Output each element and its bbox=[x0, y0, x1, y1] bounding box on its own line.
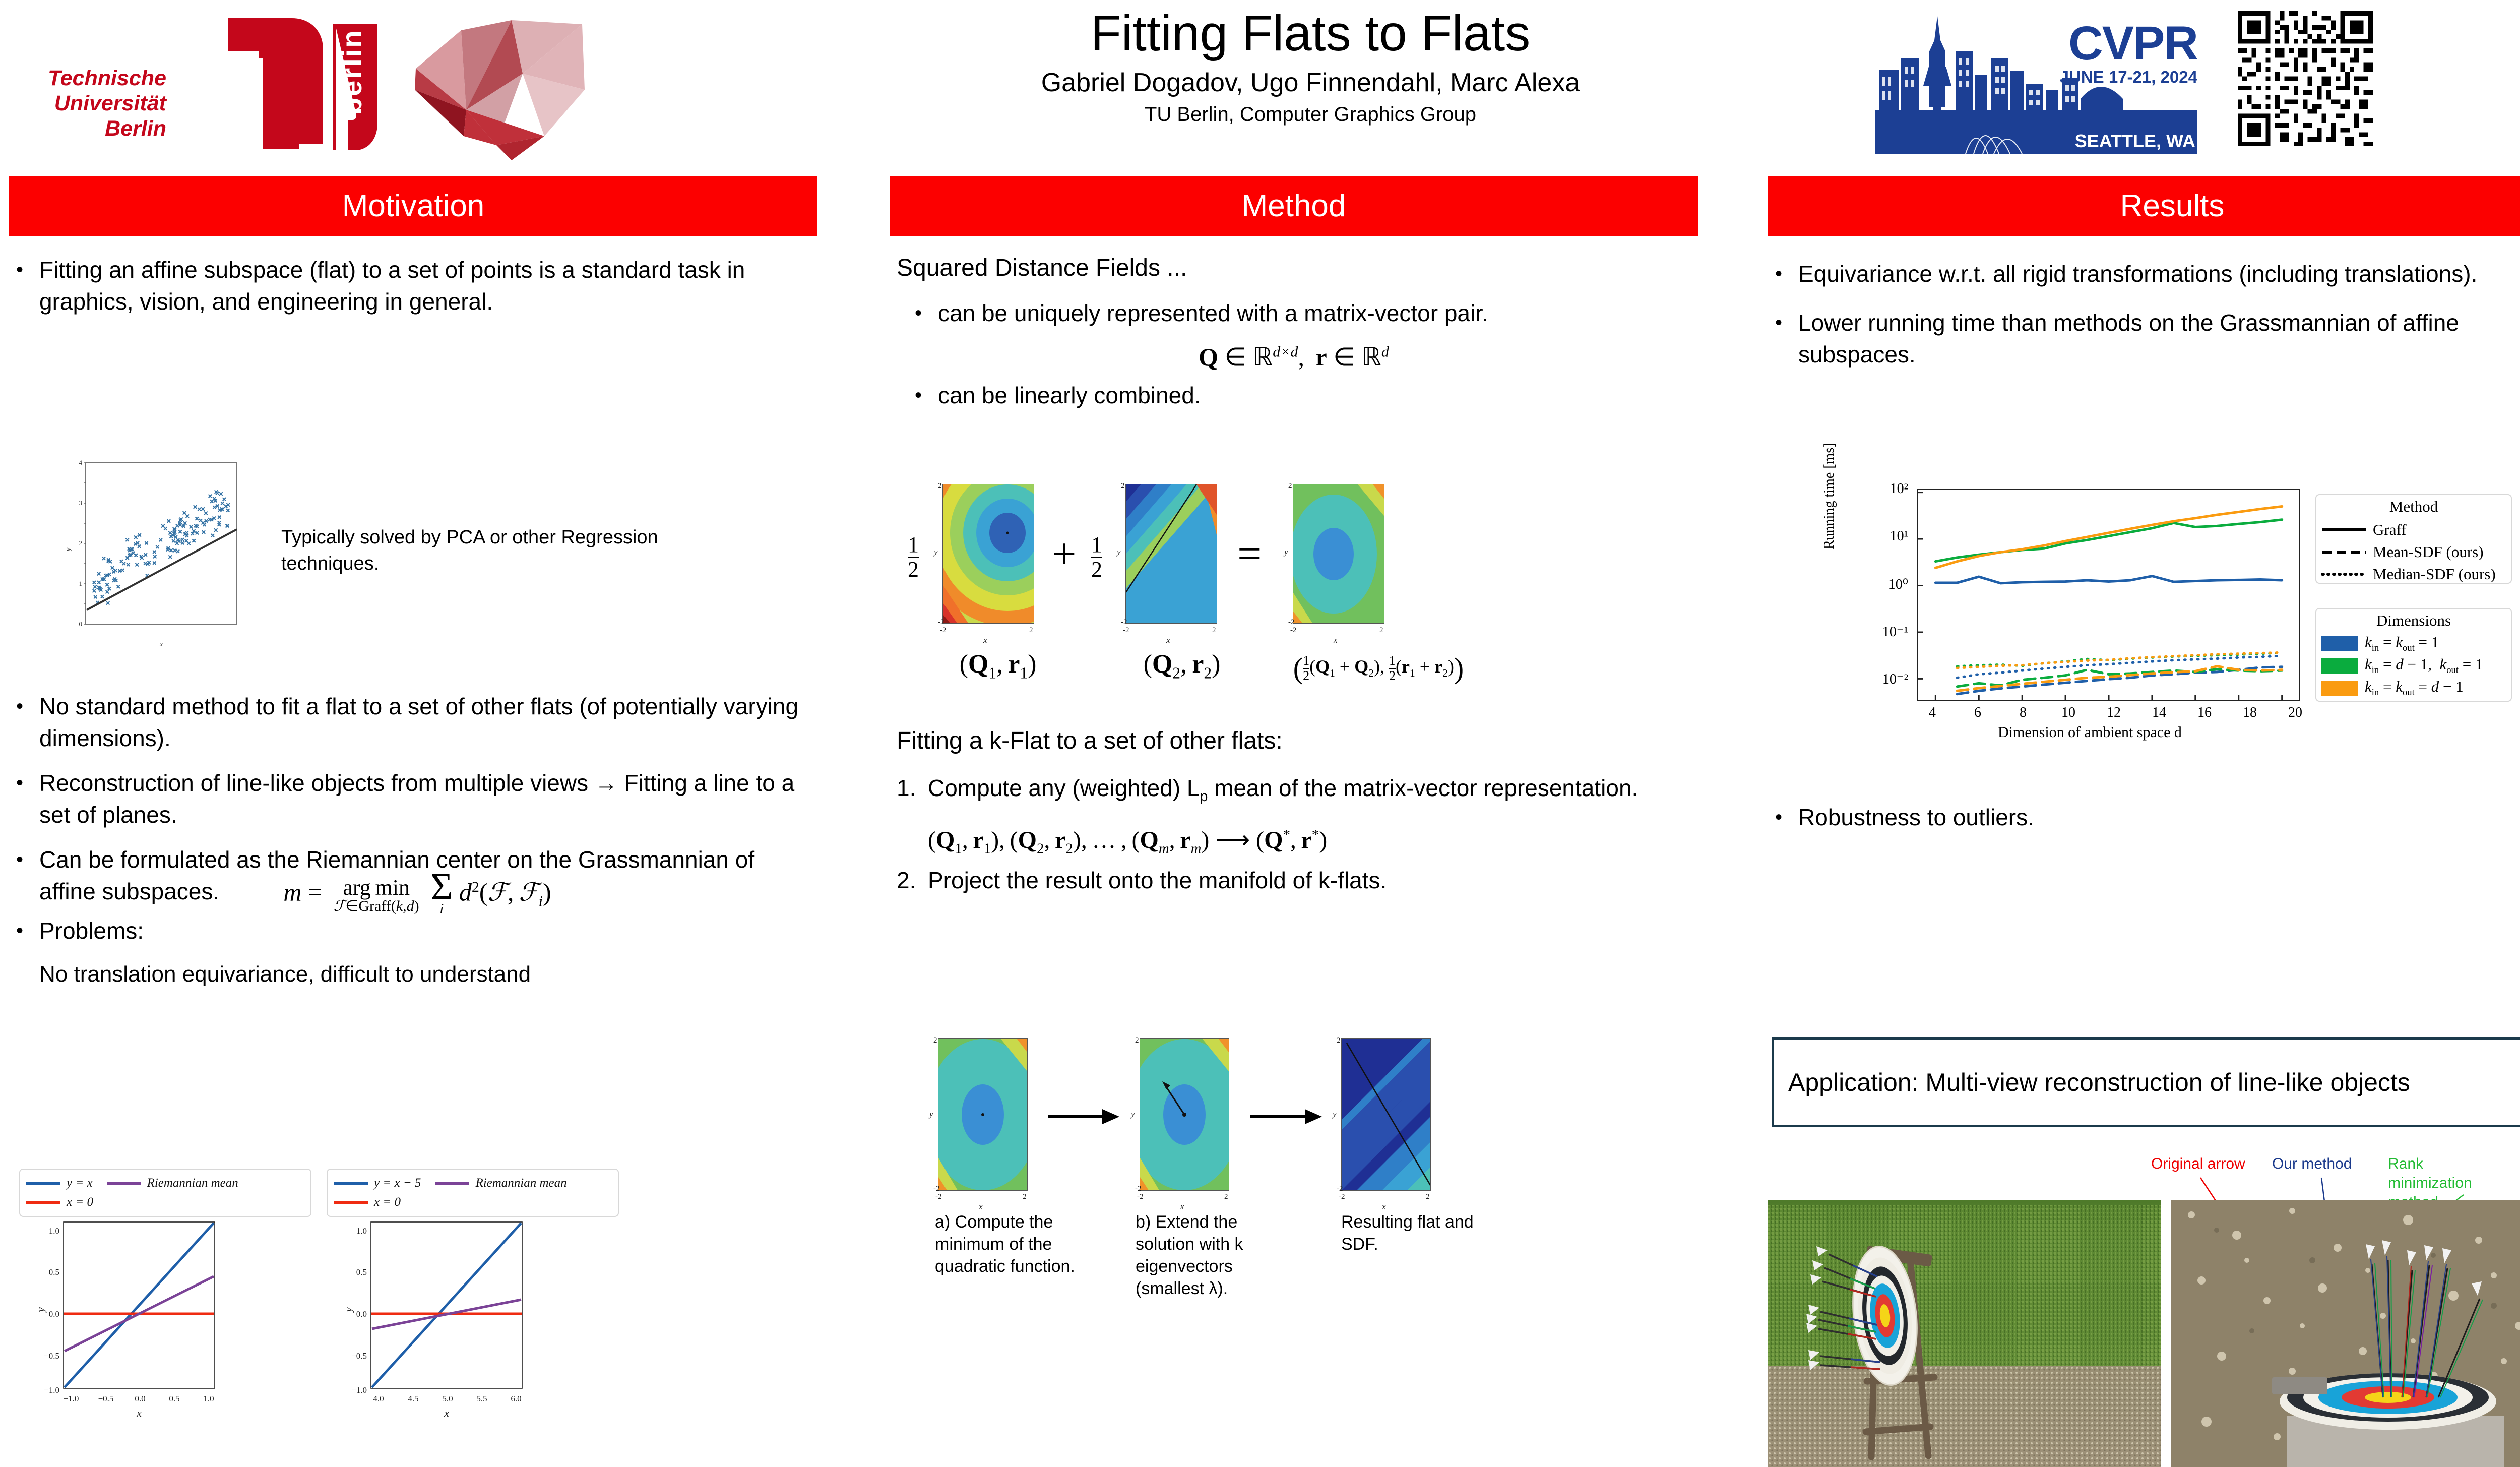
x-tick-label: 14 bbox=[2144, 705, 2174, 721]
legend-label: kin = d − 1, kout = 1 bbox=[2365, 655, 2483, 676]
legend-line-swatch bbox=[26, 1201, 60, 1204]
equivariance-plot-translated: y = x − 5 Riemannian mean x = 0 1.00.5 0… bbox=[327, 1169, 619, 1451]
x-tick-label: 20 bbox=[2280, 705, 2310, 721]
cvpr-text-block: CVPR JUNE 17-21, 2024 bbox=[2060, 21, 2197, 87]
bullet-text: Robustness to outliers. bbox=[1798, 802, 2520, 833]
svg-text:1: 1 bbox=[79, 580, 83, 587]
legend-row: Mean-SDF (ours) bbox=[2316, 541, 2511, 563]
riemannian-center-formula: m = arg min ℱ∈Graff(k,d) Σ i d2(ℱ, ℱi) bbox=[70, 872, 765, 918]
figure-caption-c: Resulting flat and SDF. bbox=[1341, 1211, 1502, 1255]
legend-row: Median-SDF (ours) bbox=[2316, 563, 2511, 585]
bullet-item: • No standard method to fit a flat to a … bbox=[16, 691, 810, 754]
legend-color-swatch bbox=[2321, 681, 2358, 696]
y-tick-label: 10⁻² bbox=[1848, 670, 1908, 688]
scatter-note: Typically solved by PCA or other Regress… bbox=[281, 524, 700, 577]
step-number: 1. bbox=[897, 772, 928, 813]
bullet-dot-icon: • bbox=[1775, 258, 1798, 290]
chart-legend-dimensions: Dimensions kin = kout = 1 kin = d − 1, k… bbox=[2315, 608, 2512, 702]
svg-text:y: y bbox=[65, 547, 73, 552]
x-tick-label: 10 bbox=[2053, 705, 2084, 721]
contour-plot-step-a bbox=[938, 1038, 1028, 1191]
chart-plot-area bbox=[1917, 489, 2300, 701]
bullet-text: Equivariance w.r.t. all rigid transforma… bbox=[1798, 258, 2520, 290]
contour-plot-step-b bbox=[1140, 1038, 1229, 1191]
section-header-results: Results bbox=[1768, 176, 2520, 236]
svg-text:−1.0: −1.0 bbox=[351, 1385, 367, 1395]
bullet-text: can be uniquely represented with a matri… bbox=[938, 297, 1691, 329]
photo-archery-target-original bbox=[1768, 1200, 2161, 1467]
legend-row: kin = kout = d − 1 bbox=[2316, 677, 2511, 699]
figure-caption-b: b) Extend the solution with k eigenvecto… bbox=[1136, 1211, 1297, 1300]
section-header-method: Method bbox=[890, 176, 1698, 236]
bullet-dot-icon: • bbox=[16, 767, 39, 831]
section-title-motivation: Motivation bbox=[342, 191, 485, 222]
sdf-combination-figure: 1 2 2 -2 -2 2 x y + 1 2 bbox=[890, 479, 1698, 696]
combination-result: (12(Q1 + Q2), 12(r1 + r2)) bbox=[1273, 651, 1484, 685]
qr-code[interactable] bbox=[2238, 11, 2373, 146]
bullet-item: • can be linearly combined. bbox=[897, 380, 1691, 411]
bullet-text: No standard method to fit a flat to a se… bbox=[39, 691, 810, 754]
y-tick-label: 10¹ bbox=[1848, 528, 1908, 544]
contour-plot-result bbox=[1293, 484, 1384, 624]
arrow-right-icon bbox=[1248, 1104, 1324, 1129]
bullet-item: • Equivariance w.r.t. all rigid transfor… bbox=[1775, 258, 2520, 290]
legend-color-swatch bbox=[2321, 658, 2358, 674]
svg-text:6.0: 6.0 bbox=[511, 1394, 521, 1403]
svg-text:4: 4 bbox=[79, 459, 83, 466]
application-text: Application: Multi-view reconstruction o… bbox=[1774, 1068, 2410, 1097]
application-box: Application: Multi-view reconstruction o… bbox=[1772, 1037, 2520, 1127]
column-motivation: Motivation • Fitting an affine subspace … bbox=[9, 176, 817, 331]
bullet-dot-icon: • bbox=[16, 254, 39, 318]
column-results: Results • Equivariance w.r.t. all rigid … bbox=[1768, 176, 2520, 384]
svg-text:y: y bbox=[34, 1307, 47, 1313]
cvpr-city: SEATTLE, WA bbox=[2075, 131, 2195, 152]
cvpr-logo: CVPR JUNE 17-21, 2024 SEATTLE, WA bbox=[1875, 10, 2197, 154]
section-title-method: Method bbox=[1242, 191, 1346, 222]
svg-text:−0.5: −0.5 bbox=[44, 1351, 59, 1361]
svg-text:x: x bbox=[159, 640, 163, 648]
bullet-text: Lower running time than methods on the G… bbox=[1798, 307, 2520, 371]
y-tick-label: 10⁰ bbox=[1848, 576, 1908, 593]
x-tick-label: 18 bbox=[2235, 705, 2265, 721]
cvpr-dates: JUNE 17-21, 2024 bbox=[2060, 68, 2197, 87]
svg-text:−1.0: −1.0 bbox=[64, 1394, 79, 1403]
svg-text:4.0: 4.0 bbox=[373, 1394, 384, 1403]
legend-label: Graff bbox=[2373, 521, 2407, 539]
legend-label: y = x bbox=[67, 1176, 93, 1190]
legend-label: Riemannian mean bbox=[475, 1176, 566, 1190]
x-tick-label: 16 bbox=[2189, 705, 2220, 721]
combination-term-1: (Q1, r1) bbox=[940, 649, 1056, 682]
svg-text:2: 2 bbox=[79, 539, 83, 547]
bullet-item: • Lower running time than methods on the… bbox=[1775, 307, 2520, 371]
tu-berlin-wordmark: Technische Universität Berlin bbox=[5, 66, 166, 141]
svg-text:5.5: 5.5 bbox=[476, 1394, 487, 1403]
svg-text:0.0: 0.0 bbox=[356, 1309, 367, 1319]
projection-figure: 2 -2 -2 2 x y 2 -2 -2 2 x y bbox=[890, 1033, 1698, 1250]
bullet-text: Problems: bbox=[39, 915, 810, 947]
legend-line-swatch bbox=[107, 1182, 141, 1185]
plus-operator: + bbox=[1052, 528, 1077, 579]
chart-lines bbox=[1918, 490, 2299, 700]
x-tick-label: 6 bbox=[1963, 705, 1993, 721]
step-text: Compute any (weighted) Lp mean of the ma… bbox=[928, 772, 1691, 813]
svg-text:0.0: 0.0 bbox=[49, 1309, 59, 1319]
section-title-results: Results bbox=[2120, 191, 2225, 222]
section-header-motivation: Motivation bbox=[9, 176, 817, 236]
legend-line-swatch bbox=[435, 1182, 469, 1185]
sdf-heading: Squared Distance Fields ... bbox=[897, 253, 1691, 283]
legend-label: kin = kout = d − 1 bbox=[2365, 678, 2464, 698]
annotation-our-method: Our method bbox=[2272, 1154, 2352, 1174]
bullet-dot-icon: • bbox=[1775, 802, 1798, 833]
bullet-dot-icon: • bbox=[16, 691, 39, 754]
tu-line-2: Universität bbox=[5, 91, 166, 116]
legend-label: y = x − 5 bbox=[374, 1176, 421, 1190]
cvpr-name: CVPR bbox=[2060, 21, 2197, 66]
tu-line-1: Technische bbox=[5, 66, 166, 91]
svg-text:1.0: 1.0 bbox=[49, 1226, 59, 1236]
svg-text:−0.5: −0.5 bbox=[351, 1351, 367, 1361]
svg-text:−0.5: −0.5 bbox=[98, 1394, 114, 1403]
legend-line-solid-icon bbox=[2321, 527, 2367, 533]
chart-ylabel: Running time [ms] bbox=[1821, 443, 1838, 549]
bullet-item: • Robustness to outliers. bbox=[1775, 802, 2520, 833]
legend-line-swatch bbox=[26, 1182, 60, 1185]
plot-legend: y = x − 5 Riemannian mean x = 0 bbox=[327, 1169, 619, 1217]
x-tick-label: 4 bbox=[1917, 705, 1947, 721]
bullet-text: can be linearly combined. bbox=[938, 380, 1691, 411]
legend-label: Median-SDF (ours) bbox=[2373, 565, 2496, 583]
coefficient-half: 1 2 bbox=[1091, 533, 1102, 581]
figure-caption-a: a) Compute the minimum of the quadratic … bbox=[935, 1211, 1086, 1277]
qr-formula: Q ∈ ℝd×d, r ∈ ℝd bbox=[897, 342, 1691, 372]
poster-authors: Gabriel Dogadov, Ugo Finnendahl, Marc Al… bbox=[806, 67, 1814, 99]
svg-text:y: y bbox=[342, 1307, 354, 1313]
bullet-text: Reconstruction of line-like objects from… bbox=[39, 767, 810, 831]
svg-text:1.0: 1.0 bbox=[203, 1394, 214, 1403]
contour-plot-step-c bbox=[1341, 1038, 1431, 1191]
photo-archery-target-reconstruction bbox=[2171, 1200, 2520, 1467]
chart-legend-method: Method Graff Mean-SDF (ours) Median-SDF … bbox=[2315, 494, 2512, 584]
svg-text:0.5: 0.5 bbox=[49, 1267, 59, 1277]
tu-line-3: Berlin bbox=[5, 116, 166, 141]
legend-label: x = 0 bbox=[374, 1195, 401, 1209]
x-tick-label: 12 bbox=[2099, 705, 2129, 721]
combination-term-2: (Q2, r2) bbox=[1124, 649, 1240, 682]
step-item: 2. Project the result onto the manifold … bbox=[897, 865, 1691, 896]
poster-title: Fitting Flats to Flats bbox=[806, 5, 1814, 62]
bullet-dot-icon: • bbox=[16, 915, 39, 947]
bullet-item: • can be uniquely represented with a mat… bbox=[897, 297, 1691, 329]
tu-berlin-logo: berlin bbox=[113, 9, 658, 160]
contour-plot-q2 bbox=[1125, 484, 1217, 624]
kflat-heading: Fitting a k-Flat to a set of other flats… bbox=[897, 726, 1691, 756]
legend-line-dashed-icon bbox=[2321, 549, 2367, 555]
legend-line-swatch bbox=[334, 1182, 368, 1185]
legend-line-dotted-icon bbox=[2321, 571, 2367, 577]
svg-text:−1.0: −1.0 bbox=[44, 1385, 59, 1395]
step-number: 2. bbox=[897, 865, 928, 896]
step-text: Project the result onto the manifold of … bbox=[928, 865, 1691, 896]
step-item: 1. Compute any (weighted) Lp mean of the… bbox=[897, 772, 1691, 813]
bullet-item: • Problems: bbox=[16, 915, 810, 947]
chart-xlabel: Dimension of ambient space d bbox=[1998, 724, 2182, 741]
y-tick-label: 10⁻¹ bbox=[1848, 623, 1908, 640]
legend-row: kin = d − 1, kout = 1 bbox=[2316, 655, 2511, 677]
title-block: Fitting Flats to Flats Gabriel Dogadov, … bbox=[806, 5, 1814, 127]
legend-label: x = 0 bbox=[67, 1195, 93, 1209]
step-formula: (Q1, r1), (Q2, r2), … , (Qm, rm) ⟶ (Q*, … bbox=[928, 826, 1691, 858]
bullet-text: Fitting an affine subspace (flat) to a s… bbox=[39, 254, 810, 318]
legend-color-swatch bbox=[2321, 636, 2358, 651]
contour-plot-q1 bbox=[942, 484, 1034, 624]
svg-text:4.5: 4.5 bbox=[408, 1394, 418, 1403]
svg-text:0.5: 0.5 bbox=[169, 1394, 179, 1403]
legend-line-swatch bbox=[334, 1201, 368, 1204]
svg-text:1.0: 1.0 bbox=[356, 1226, 367, 1236]
legend-label: Riemannian mean bbox=[147, 1176, 238, 1190]
svg-text:0: 0 bbox=[79, 620, 83, 628]
bullet-dot-icon: • bbox=[16, 844, 39, 907]
svg-text:x: x bbox=[444, 1407, 449, 1419]
legend-row: kin = kout = 1 bbox=[2316, 633, 2511, 655]
bullet-dot-icon: • bbox=[1775, 307, 1798, 371]
poster-header: berlin Technische Universität Ber bbox=[0, 0, 2520, 174]
poster-affiliation: TU Berlin, Computer Graphics Group bbox=[806, 102, 1814, 127]
annotation-original-arrow: Original arrow bbox=[2151, 1154, 2245, 1174]
legend-row: Graff bbox=[2316, 519, 2511, 541]
bullet-dot-icon: • bbox=[915, 297, 938, 329]
bullet-item: • Fitting an affine subspace (flat) to a… bbox=[16, 254, 810, 318]
svg-text:berlin: berlin bbox=[336, 29, 367, 115]
plot-legend: y = x Riemannian mean x = 0 bbox=[19, 1169, 311, 1217]
x-tick-label: 8 bbox=[2008, 705, 2038, 721]
problem-text: No translation equivariance, difficult t… bbox=[16, 960, 810, 989]
y-tick-label: 10² bbox=[1848, 481, 1908, 497]
column-method: Method Squared Distance Fields ... • can… bbox=[890, 176, 1698, 424]
legend-title: Method bbox=[2316, 498, 2511, 516]
svg-text:3: 3 bbox=[79, 499, 83, 507]
scatter-plot-pca: 43 21 0 y x [] bbox=[57, 459, 254, 650]
bullet-item: • Reconstruction of line-like objects fr… bbox=[16, 767, 810, 831]
equals-operator: = bbox=[1237, 528, 1262, 579]
legend-label: Mean-SDF (ours) bbox=[2373, 543, 2484, 561]
equivariance-plot-original: y = x Riemannian mean x = 0 1.00.5 0.0−0… bbox=[19, 1169, 311, 1451]
svg-text:0.0: 0.0 bbox=[135, 1394, 145, 1403]
running-time-chart: Running time [ms] 10² 10¹ 10⁰ 10⁻¹ 10⁻² … bbox=[1816, 479, 2520, 746]
coefficient-half: 1 2 bbox=[908, 533, 919, 581]
legend-label: kin = kout = 1 bbox=[2365, 633, 2439, 654]
legend-title: Dimensions bbox=[2316, 612, 2511, 630]
svg-text:x: x bbox=[136, 1407, 142, 1419]
arrow-right-icon bbox=[1046, 1104, 1121, 1129]
svg-text:5.0: 5.0 bbox=[442, 1394, 453, 1403]
svg-text:0.5: 0.5 bbox=[356, 1267, 367, 1277]
bullet-dot-icon: • bbox=[915, 380, 938, 411]
